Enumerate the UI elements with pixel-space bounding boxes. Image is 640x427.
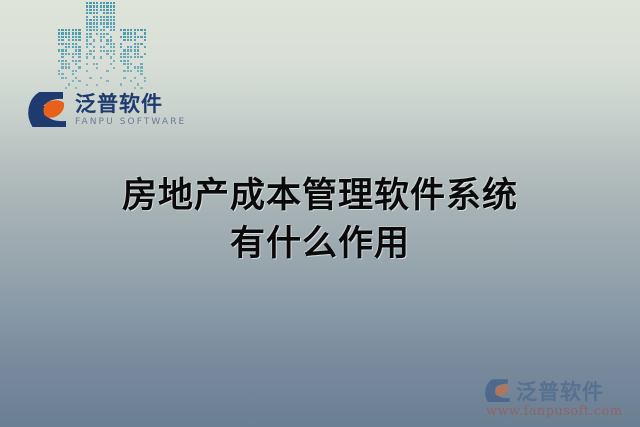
pixel-block	[58, 60, 60, 62]
pixel-block	[127, 36, 129, 38]
pixel-block	[86, 56, 88, 58]
pixel-block	[103, 50, 105, 52]
pixel-block	[130, 36, 132, 38]
pixel-block	[110, 26, 112, 28]
pixel-block	[123, 60, 125, 62]
pixel-block	[61, 73, 63, 75]
pixel-block	[75, 46, 77, 48]
pixel-block	[93, 16, 95, 18]
pixel-block	[75, 53, 77, 55]
pixel-block	[123, 56, 125, 58]
pixel-block	[89, 36, 91, 38]
pixel-block	[68, 53, 70, 55]
pixel-block	[134, 56, 136, 58]
pixel-block	[130, 56, 132, 58]
pixel-block	[65, 43, 67, 45]
pixel-block	[96, 84, 98, 86]
pixel-block	[96, 12, 98, 14]
pixel-block	[106, 12, 108, 14]
pixel-block	[86, 43, 88, 45]
pixel-block	[144, 53, 146, 55]
pixel-block	[113, 60, 115, 62]
pixel-block	[65, 53, 67, 55]
pixel-block	[96, 33, 98, 35]
pixel-block	[68, 66, 70, 68]
pixel-block	[65, 29, 67, 31]
pixel-block	[134, 29, 136, 31]
pixel-block	[127, 56, 129, 58]
page-title: 房地产成本管理软件系统 有什么作用	[0, 172, 640, 268]
pixel-block	[72, 70, 74, 72]
pixel-block	[144, 80, 146, 82]
pixel-block	[68, 83, 70, 85]
pixel-block	[120, 43, 122, 45]
pixel-block	[78, 53, 80, 55]
pixel-block	[86, 19, 88, 21]
pixel-block	[86, 36, 88, 38]
pixel-block	[103, 9, 105, 11]
pixel-block	[134, 32, 136, 34]
pixel-block	[61, 60, 63, 62]
pixel-block	[137, 46, 139, 48]
pixel-block	[65, 77, 67, 79]
pixel-block	[65, 32, 67, 34]
pixel-block	[144, 29, 146, 31]
brand-name-cn: 泛普软件	[75, 93, 186, 115]
page-title-line-2: 有什么作用	[0, 220, 640, 268]
pixel-block	[100, 50, 102, 52]
pixel-block	[113, 5, 115, 7]
pixel-block	[127, 39, 129, 41]
pixel-block	[144, 32, 146, 34]
pixel-block	[140, 73, 142, 75]
pixel-block	[86, 2, 88, 4]
pixel-block	[100, 5, 102, 7]
pixel-block	[75, 49, 77, 51]
pixel-block	[130, 39, 132, 41]
pixel-block	[123, 39, 125, 41]
pixel-block	[78, 56, 80, 58]
pixel-block	[68, 63, 70, 65]
watermark-url: www.fanpusoft.com	[486, 404, 634, 419]
pixel-block	[89, 77, 91, 79]
pixel-block	[110, 46, 112, 48]
pixel-block	[103, 29, 105, 31]
pixel-block	[78, 60, 80, 62]
pixel-block	[113, 53, 115, 55]
pixel-block	[113, 12, 115, 14]
pixel-block	[72, 73, 74, 75]
pixel-block	[106, 26, 108, 28]
pixel-block	[134, 66, 136, 68]
pixel-block	[127, 63, 129, 65]
pixel-block	[127, 53, 129, 55]
pixel-block	[89, 50, 91, 52]
pixel-block	[103, 5, 105, 7]
pixel-block	[134, 49, 136, 51]
pixel-block	[134, 39, 136, 41]
pixel-block	[123, 77, 125, 79]
pixel-block	[68, 29, 70, 31]
pixel-block	[86, 84, 88, 86]
poster-canvas: 泛普软件 FANPU SOFTWARE 房地产成本管理软件系统 有什么作用 泛普…	[0, 0, 640, 427]
pixel-block	[110, 19, 112, 21]
pixel-block	[61, 56, 63, 58]
pixel-block	[68, 46, 70, 48]
pixel-block	[89, 9, 91, 11]
pixel-block	[75, 63, 77, 65]
pixel-block	[93, 50, 95, 52]
pixel-block	[120, 83, 122, 85]
pixel-block	[100, 33, 102, 35]
pixel-block	[93, 39, 95, 41]
pixel-block	[113, 46, 115, 48]
pixel-block	[96, 2, 98, 4]
pixel-block	[61, 32, 63, 34]
page-title-line-1: 房地产成本管理软件系统	[0, 172, 640, 220]
pixel-block	[100, 56, 102, 58]
pixel-block	[58, 49, 60, 51]
pixel-block	[106, 70, 108, 72]
pixel-block	[75, 70, 77, 72]
watermark-logo-row: 泛普软件	[484, 376, 634, 406]
pixel-block	[130, 46, 132, 48]
pixel-block	[93, 2, 95, 4]
pixel-block	[86, 46, 88, 48]
pixel-block	[137, 70, 139, 72]
pixel-block	[113, 16, 115, 18]
pixel-block	[86, 5, 88, 7]
pixel-block	[61, 63, 63, 65]
pixel-block	[106, 19, 108, 21]
pixel-block	[61, 53, 63, 55]
pixel-block	[123, 49, 125, 51]
pixel-block	[113, 67, 115, 69]
pixel-block	[137, 66, 139, 68]
pixel-block	[72, 39, 74, 41]
pixel-block	[86, 26, 88, 28]
watermark-brand-name: 泛普软件	[516, 376, 604, 406]
pixel-block	[58, 36, 60, 38]
pixel-block	[140, 56, 142, 58]
pixel-block	[93, 26, 95, 28]
pixel-block	[68, 32, 70, 34]
pixel-block	[110, 50, 112, 52]
pixel-block	[120, 60, 122, 62]
pixel-block	[78, 29, 80, 31]
pixel-block	[75, 77, 77, 79]
pixel-block	[72, 56, 74, 58]
pixel-block	[100, 39, 102, 41]
pixel-block	[127, 70, 129, 72]
pixel-block	[96, 29, 98, 31]
pixel-block	[65, 46, 67, 48]
pixel-block	[78, 36, 80, 38]
pixel-block	[106, 16, 108, 18]
pixel-block	[89, 22, 91, 24]
pixel-block	[110, 29, 112, 31]
pixel-block	[127, 29, 129, 31]
pixel-block	[58, 43, 60, 45]
pixel-block	[58, 39, 60, 41]
pixel-block	[106, 2, 108, 4]
watermark: 泛普软件 www.fanpusoft.com	[484, 376, 634, 419]
pixel-block	[120, 36, 122, 38]
pixel-block	[137, 53, 139, 55]
pixel-block	[130, 32, 132, 34]
pixel-block	[89, 43, 91, 45]
pixel-block	[110, 39, 112, 41]
pixel-block	[89, 19, 91, 21]
brand-name-en: FANPU SOFTWARE	[75, 117, 186, 128]
pixel-block	[140, 63, 142, 65]
pixel-block	[86, 16, 88, 18]
pixel-block	[72, 43, 74, 45]
pixel-block	[78, 80, 80, 82]
pixel-block	[137, 49, 139, 51]
pixel-block	[137, 43, 139, 45]
pixel-block	[106, 53, 108, 55]
pixel-block	[78, 39, 80, 41]
pixel-block	[100, 22, 102, 24]
pixel-block	[86, 12, 88, 14]
pixel-block	[93, 22, 95, 24]
pixel-block	[103, 12, 105, 14]
pixel-block	[68, 39, 70, 41]
pixel-block	[96, 22, 98, 24]
pixel-block	[89, 2, 91, 4]
pixel-block	[110, 63, 112, 65]
pixel-block	[113, 2, 115, 4]
pixel-block	[123, 70, 125, 72]
pixel-block	[68, 43, 70, 45]
pixel-block	[103, 16, 105, 18]
pixel-block	[106, 43, 108, 45]
pixel-block	[120, 53, 122, 55]
pixel-block	[96, 19, 98, 21]
pixel-block	[100, 77, 102, 79]
pixel-block	[68, 36, 70, 38]
pixel-block	[123, 32, 125, 34]
pixel-block	[106, 50, 108, 52]
pixel-block	[93, 9, 95, 11]
pixel-block	[113, 9, 115, 11]
pixel-block	[144, 39, 146, 41]
pixel-block	[113, 26, 115, 28]
pixel-block	[96, 26, 98, 28]
pixel-block	[72, 46, 74, 48]
pixel-block	[89, 26, 91, 28]
pixel-block	[134, 77, 136, 79]
pixel-block	[93, 63, 95, 65]
pixel-block	[110, 36, 112, 38]
pixel-block	[103, 19, 105, 21]
pixel-block	[65, 63, 67, 65]
pixel-block	[86, 53, 88, 55]
pixel-block	[106, 80, 108, 82]
pixel-block	[75, 36, 77, 38]
pixel-block	[75, 39, 77, 41]
pixel-block	[110, 12, 112, 14]
pixel-block	[137, 29, 139, 31]
pixel-block	[65, 66, 67, 68]
pixel-block	[127, 32, 129, 34]
pixel-block	[130, 80, 132, 82]
pixel-block	[100, 2, 102, 4]
pixel-block	[120, 29, 122, 31]
pixel-block	[93, 46, 95, 48]
pixel-block	[72, 32, 74, 34]
pixel-block	[93, 12, 95, 14]
pixel-block	[96, 9, 98, 11]
pixel-block	[100, 29, 102, 31]
pixel-block	[93, 5, 95, 7]
pixel-block	[89, 12, 91, 14]
pixel-block	[89, 29, 91, 31]
pixel-block	[86, 39, 88, 41]
pixel-block	[123, 29, 125, 31]
pixel-block	[100, 46, 102, 48]
pixel-block	[89, 5, 91, 7]
pixel-block	[106, 9, 108, 11]
pixel-block	[65, 60, 67, 62]
pixel-block	[120, 56, 122, 58]
pixel-block	[86, 22, 88, 24]
pixel-block	[110, 56, 112, 58]
pixel-block	[93, 19, 95, 21]
pixel-block	[86, 63, 88, 65]
pixel-block	[78, 46, 80, 48]
pixel-block	[110, 43, 112, 45]
pixel-block	[127, 46, 129, 48]
pixel-block	[137, 83, 139, 85]
pixel-block	[103, 26, 105, 28]
pixel-block	[100, 9, 102, 11]
pixel-block	[110, 16, 112, 18]
pixel-block	[113, 29, 115, 31]
pixel-block	[103, 36, 105, 38]
pixel-block	[96, 67, 98, 69]
pixel-block	[106, 5, 108, 7]
pixel-block	[123, 36, 125, 38]
pixel-block	[140, 29, 142, 31]
pixel-block	[96, 16, 98, 18]
pixel-block	[140, 70, 142, 72]
pixel-block	[86, 29, 88, 31]
pixel-block	[103, 22, 105, 24]
pixel-block	[140, 66, 142, 68]
pixel-block	[61, 43, 63, 45]
pixel-block	[134, 36, 136, 38]
pixel-block	[72, 80, 74, 82]
pixel-block	[110, 5, 112, 7]
pixel-block	[78, 32, 80, 34]
pixel-block	[58, 70, 60, 72]
pixel-block	[130, 49, 132, 51]
pixel-block	[58, 29, 60, 31]
pixel-block	[127, 60, 129, 62]
pixel-block	[113, 19, 115, 21]
pixel-block	[75, 60, 77, 62]
pixel-block	[140, 36, 142, 38]
pixel-block	[100, 16, 102, 18]
pixel-block	[61, 39, 63, 41]
pixel-block	[100, 36, 102, 38]
pixel-block	[89, 53, 91, 55]
pixel-block	[137, 56, 139, 58]
pixel-block	[100, 19, 102, 21]
pixel-block	[72, 53, 74, 55]
pixel-block	[130, 70, 132, 72]
pixel-block	[134, 53, 136, 55]
pixel-block	[86, 33, 88, 35]
pixel-block	[75, 32, 77, 34]
pixel-block	[61, 66, 63, 68]
pixel-block	[110, 9, 112, 11]
pixel-block	[103, 46, 105, 48]
fanpu-hexagon-swoosh-icon	[27, 90, 69, 130]
brand-wordmark: 泛普软件 FANPU SOFTWARE	[75, 93, 186, 128]
pixel-block	[134, 43, 136, 45]
pixel-block	[130, 29, 132, 31]
pixel-block	[72, 36, 74, 38]
pixel-block	[140, 43, 142, 45]
pixel-block	[106, 39, 108, 41]
pixel-block	[144, 77, 146, 79]
watermark-hexagon-swoosh-icon	[484, 378, 512, 404]
pixel-block	[123, 53, 125, 55]
pixel-block	[78, 66, 80, 68]
pixel-block	[61, 77, 63, 79]
pixel-block	[65, 49, 67, 51]
pixel-block	[61, 36, 63, 38]
pixel-block	[110, 22, 112, 24]
pixel-block	[103, 33, 105, 35]
pixel-block	[137, 36, 139, 38]
pixel-block	[58, 73, 60, 75]
pixel-block	[58, 32, 60, 34]
pixel-block	[72, 60, 74, 62]
pixel-block	[123, 63, 125, 65]
pixel-city-skyline-icon	[55, 0, 150, 88]
pixel-block	[78, 49, 80, 51]
pixel-block	[110, 2, 112, 4]
pixel-block	[93, 29, 95, 31]
pixel-block	[120, 46, 122, 48]
pixel-block	[127, 66, 129, 68]
pixel-block	[106, 33, 108, 35]
pixel-block	[130, 63, 132, 65]
pixel-block	[65, 36, 67, 38]
pixel-block	[144, 36, 146, 38]
pixel-block	[61, 29, 63, 31]
pixel-block	[89, 33, 91, 35]
pixel-block	[93, 56, 95, 58]
pixel-block	[86, 70, 88, 72]
brand-logo: 泛普软件 FANPU SOFTWARE	[27, 88, 187, 132]
pixel-block	[75, 29, 77, 31]
pixel-block	[75, 43, 77, 45]
pixel-block	[96, 63, 98, 65]
pixel-block	[106, 22, 108, 24]
pixel-block	[144, 46, 146, 48]
pixel-block	[61, 49, 63, 51]
pixel-block	[72, 29, 74, 31]
pixel-block	[113, 22, 115, 24]
pixel-block	[113, 43, 115, 45]
pixel-block	[86, 9, 88, 11]
pixel-block	[103, 2, 105, 4]
